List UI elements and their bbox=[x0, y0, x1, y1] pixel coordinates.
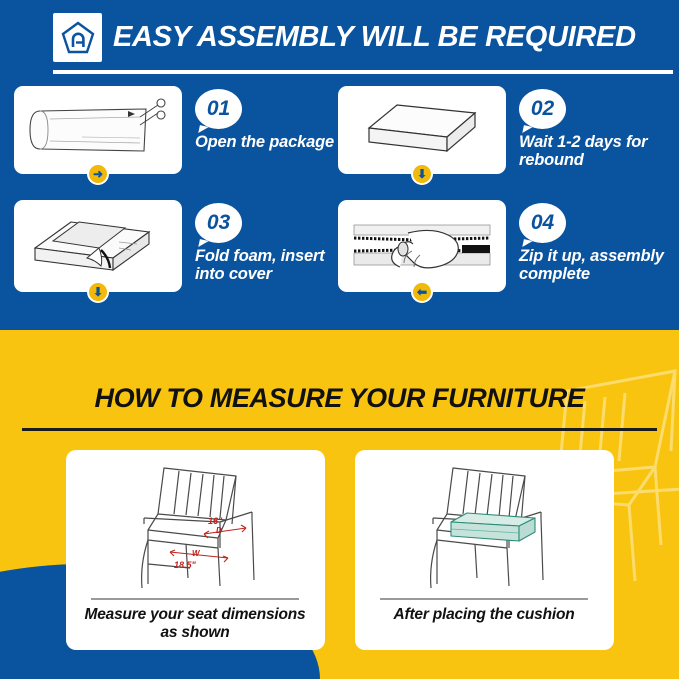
step-04-illustration-card: ⬅ bbox=[338, 200, 506, 292]
step-02-text: 02 Wait 1-2 days for rebound bbox=[506, 86, 679, 170]
assembly-step-03: ⬇ 03 Fold foam, insert into cover bbox=[0, 200, 335, 292]
step-02-illustration-card: ⬇ bbox=[338, 86, 506, 174]
arrow-glyph: ⬅ bbox=[417, 286, 427, 298]
assembly-step-02: ⬇ 02 Wait 1-2 days for rebound bbox=[335, 86, 679, 174]
step-row-2: ⬇ 03 Fold foam, insert into cover bbox=[0, 200, 679, 292]
measure-panels: 16" D W 18.5" Measure your seat dimensio… bbox=[0, 450, 679, 650]
measure-section-title: HOW TO MEASURE YOUR FURNITURE bbox=[0, 383, 679, 414]
chair-with-cushion-placed-icon bbox=[389, 456, 579, 596]
step-01-text: 01 Open the package bbox=[182, 86, 335, 151]
flat-foam-cushion-block-icon bbox=[357, 97, 487, 163]
step-04-label: Zip it up, assembly complete bbox=[519, 247, 679, 284]
assembly-steps: ➜ 01 Open the package ⬇ bbox=[0, 86, 679, 292]
chair-with-seat-dimensions-icon: 16" D W 18.5" bbox=[100, 456, 290, 596]
step-01-illustration-card: ➜ bbox=[14, 86, 182, 174]
hand-zipping-cushion-cover-icon bbox=[346, 211, 498, 281]
step-03-arrow-down-icon: ⬇ bbox=[87, 281, 109, 303]
assembly-header: EASY ASSEMBLY WILL BE REQUIRED bbox=[0, 0, 679, 78]
step-02-label: Wait 1-2 days for rebound bbox=[519, 133, 679, 170]
arrow-glyph: ➜ bbox=[93, 168, 103, 180]
step-04-text: 04 Zip it up, assembly complete bbox=[506, 200, 679, 284]
assembly-step-04: ⬅ 04 Zip it up, assembly complete bbox=[335, 200, 679, 292]
depth-letter-label: D bbox=[216, 526, 222, 535]
arrow-glyph: ⬇ bbox=[417, 168, 427, 180]
header-divider bbox=[53, 70, 673, 74]
house-pentagon-logo-icon bbox=[53, 13, 102, 62]
width-value-label: 18.5" bbox=[174, 560, 197, 570]
step-03-text: 03 Fold foam, insert into cover bbox=[182, 200, 335, 284]
arrow-glyph: ⬇ bbox=[93, 286, 103, 298]
folding-foam-into-cover-icon bbox=[27, 208, 169, 284]
panel-2-divider bbox=[380, 598, 588, 600]
depth-value-label: 16" bbox=[208, 516, 223, 526]
rolled-package-with-scissors-icon bbox=[22, 95, 174, 165]
panel-1-divider bbox=[91, 598, 299, 600]
step-01-arrow-right-icon: ➜ bbox=[87, 163, 109, 185]
page-title: EASY ASSEMBLY WILL BE REQUIRED bbox=[113, 14, 636, 60]
panel-1-caption: Measure your seat dimensions as shown bbox=[66, 606, 325, 643]
width-letter-label: W bbox=[192, 549, 201, 558]
measure-panel-dimensions: 16" D W 18.5" Measure your seat dimensio… bbox=[66, 450, 325, 650]
assembly-section: EASY ASSEMBLY WILL BE REQUIRED bbox=[0, 0, 679, 330]
step-row-1: ➜ 01 Open the package ⬇ bbox=[0, 86, 679, 174]
assembly-step-01: ➜ 01 Open the package bbox=[0, 86, 335, 174]
step-03-label: Fold foam, insert into cover bbox=[195, 247, 335, 284]
step-04-number-badge: 04 bbox=[519, 203, 566, 243]
step-02-number-badge: 02 bbox=[519, 89, 566, 129]
step-01-label: Open the package bbox=[195, 133, 335, 151]
measure-panel-cushion: After placing the cushion bbox=[355, 450, 614, 650]
step-01-number-badge: 01 bbox=[195, 89, 242, 129]
measure-title-divider bbox=[22, 428, 657, 431]
step-03-illustration-card: ⬇ bbox=[14, 200, 182, 292]
step-02-arrow-down-icon: ⬇ bbox=[411, 163, 433, 185]
step-03-number-badge: 03 bbox=[195, 203, 242, 243]
step-04-arrow-left-icon: ⬅ bbox=[411, 281, 433, 303]
panel-2-caption: After placing the cushion bbox=[383, 606, 584, 624]
